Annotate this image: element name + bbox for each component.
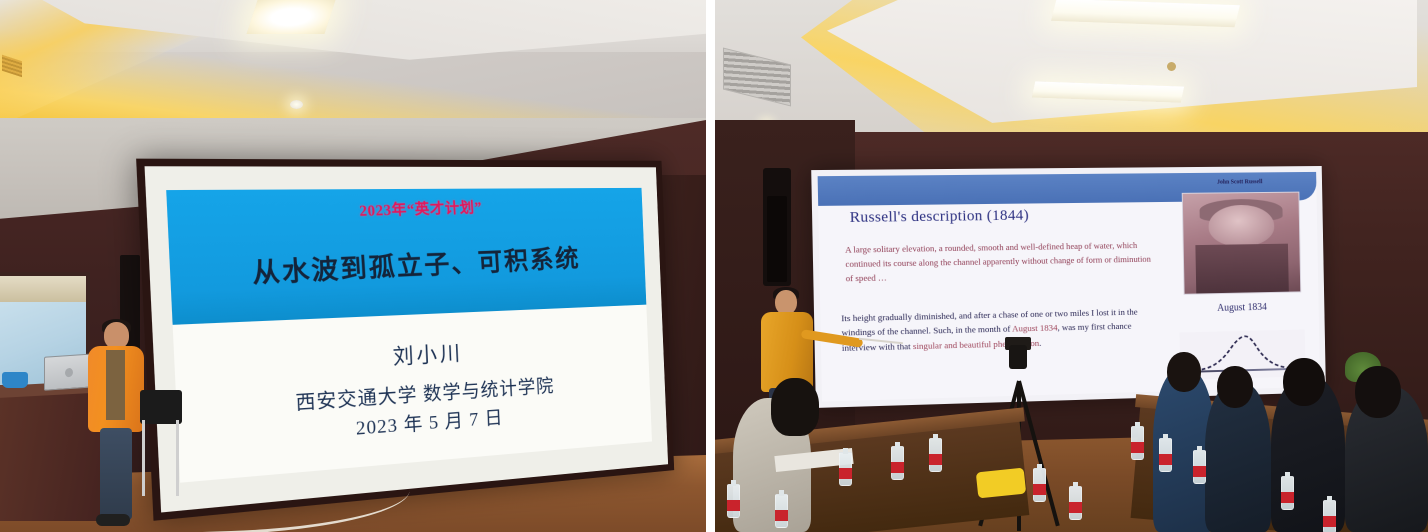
yellow-bag: [976, 468, 1026, 499]
podium: [0, 385, 100, 521]
slide-title: 从水波到孤立子、可积系统: [169, 237, 645, 296]
water-bottle: [1131, 426, 1144, 460]
right-photo: Russell's description (1844) A large sol…: [715, 0, 1428, 532]
title-slide: 2023年“英才计划” 从水波到孤立子、可积系统 刘小川 西安交通大学 数学与统…: [166, 188, 652, 483]
water-bottle: [1323, 500, 1336, 532]
left-photo: 2023年“英才计划” 从水波到孤立子、可积系统 刘小川 西安交通大学 数学与统…: [0, 0, 706, 532]
audience-head-3: [1283, 358, 1325, 406]
slide-banner: 2023年“英才计划” 从水波到孤立子、可积系统: [166, 188, 646, 325]
portrait-torso: [1195, 244, 1288, 293]
audience-person-hair: [771, 378, 819, 436]
speaker-inner-shirt: [106, 350, 125, 420]
portrait-label: August 1834: [1174, 301, 1309, 315]
wall-speaker-grille: [767, 196, 787, 282]
photo-divider: [706, 0, 715, 532]
recessed-downlight-icon: [290, 100, 303, 109]
russell-slide: Russell's description (1844) A large sol…: [818, 172, 1321, 402]
water-bottle: [891, 446, 904, 480]
audience-head-1: [1167, 352, 1201, 392]
tripod-head: [1009, 345, 1027, 369]
water-bottle: [839, 452, 852, 486]
water-bottle: [929, 438, 942, 472]
slide-title: Russell's description (1844): [850, 208, 1030, 227]
water-bottle: [1033, 468, 1046, 502]
water-bottle: [775, 494, 788, 528]
slide-body: 刘小川 西安交通大学 数学与统计学院 2023 年 5 月 7 日: [173, 305, 652, 483]
projection-screen-right: Russell's description (1844) A large sol…: [811, 166, 1326, 408]
window-blind: [0, 276, 86, 302]
blue-cup: [2, 372, 28, 388]
audience-head-4: [1355, 366, 1401, 418]
quote-date: August 1834: [1012, 323, 1058, 334]
russell-portrait: [1182, 191, 1302, 294]
audience-head-2: [1217, 366, 1253, 408]
portrait-face: [1209, 205, 1275, 248]
water-bottle: [1281, 476, 1294, 510]
recessed-panel-light-icon: [246, 0, 335, 34]
quote-line-b: Such, in the month of: [933, 324, 1012, 336]
water-bottle: [1193, 450, 1206, 484]
water-bottle: [1159, 438, 1172, 472]
speaker-head: [104, 322, 129, 349]
chair-seat: [140, 390, 182, 424]
water-bottle: [1069, 486, 1082, 520]
water-bottle: [727, 484, 740, 518]
smoke-detector-icon: [1167, 62, 1176, 71]
russell-quote-part1: A large solitary elevation, a rounded, s…: [845, 239, 1159, 286]
program-line: 2023年“英才计划”: [167, 192, 643, 227]
photo-pair-stage: 2023年“英才计划” 从水波到孤立子、可积系统 刘小川 西安交通大学 数学与统…: [0, 0, 1428, 532]
